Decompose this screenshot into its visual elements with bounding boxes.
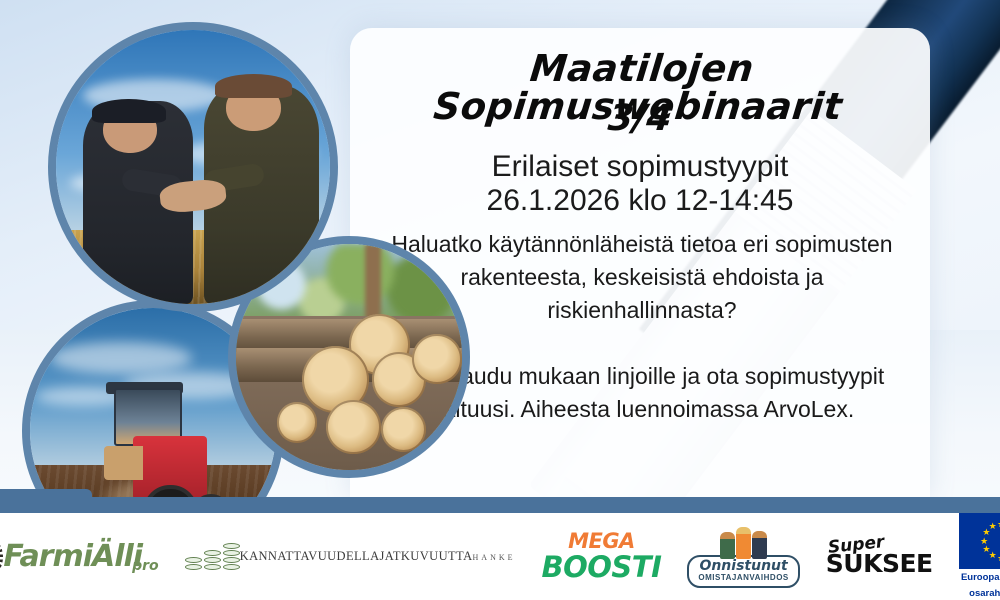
farmialli-wordmark: FarmiÄlli [3,542,142,572]
onnistunut-line-2: OMISTAJANVAIHDOS [698,573,788,583]
title-part-number: 3/4 [348,98,932,139]
event-datetime: 26.1.2026 klo 12-14:45 [350,184,930,218]
logo-kannattavuudella-jatkuvuutta: KANNATTAVUUDELLA JATKUVUUTTA HANKE [185,540,516,573]
kannattavuudella-line-2: JATKUVUUTTA [380,549,473,564]
coin-growth-icon [185,540,240,570]
divider-bar [0,497,1000,513]
partner-logo-strip: FarmiÄlli pro KANNATTAVUUDELLA JATKUVUUT… [0,513,1000,600]
eu-flag-icon: ★★★★★★★★★★★★ [959,513,1000,569]
farmialli-pro-suffix: pro [132,558,159,574]
logo-mega-boosti: MEGA BOOSTI [542,531,662,582]
boosti-word: BOOSTI [542,553,662,582]
handshake-photo [48,22,338,312]
eu-caption-line-2: osarahoittama [959,588,1000,600]
eu-star-icon: ★ [980,537,988,546]
logo-super-suksee: Super SUKSEE [826,537,933,576]
eu-star-icon: ★ [982,545,990,554]
divider-notch [0,489,92,513]
mega-word: MEGA [542,531,662,552]
kannattavuudella-line-3: HANKE [473,553,516,562]
webinar-poster: Maatilojen Sopimuswebinaarit 3/4 Erilais… [0,0,1000,600]
page-subtitle: Erilaiset sopimustyypit [350,148,930,186]
eu-caption-line-1: Euroopan unionin [959,572,1000,584]
three-people-icon [687,525,799,559]
logo-farmialli-pro: FarmiÄlli pro [0,535,159,579]
onnistunut-line-1: Onnistunut [698,559,788,573]
logo-european-union: ★★★★★★★★★★★★ Euroopan unionin osarahoitt… [959,513,1000,600]
eu-star-icon: ★ [989,522,997,531]
logo-onnistunut-omistajanvaihdos: Onnistunut OMISTAJANVAIHDOS [687,525,799,588]
kannattavuudella-line-1: KANNATTAVUUDELLA [240,549,380,564]
